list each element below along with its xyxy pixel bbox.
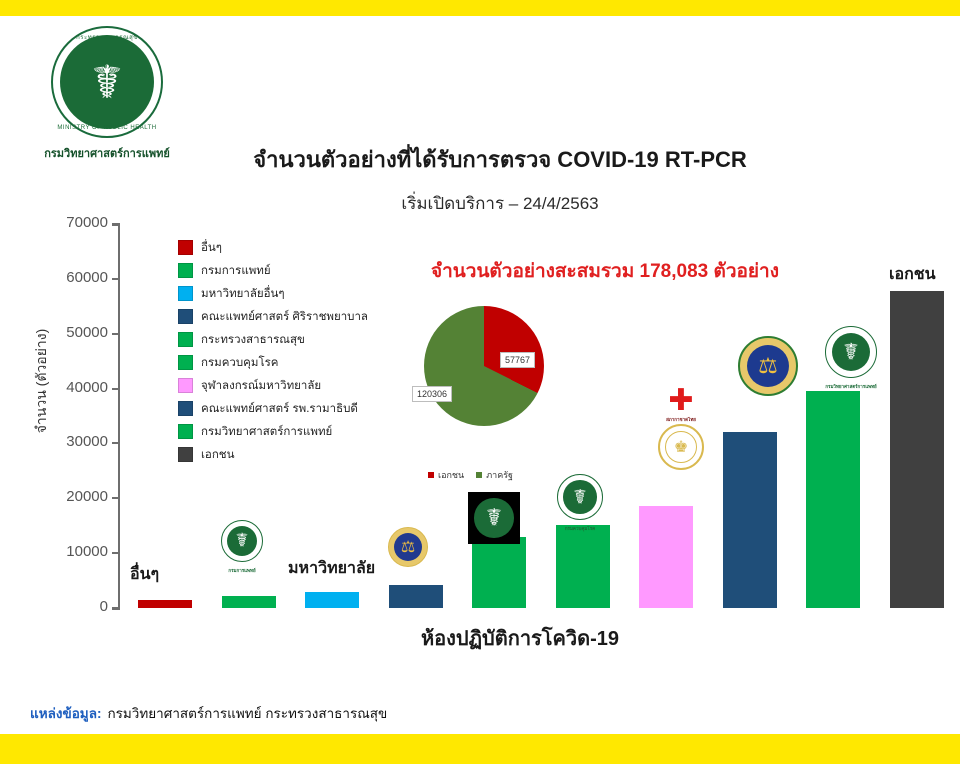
bar-logo-ddc: ☤ กรมควบคุมโรค — [548, 474, 612, 531]
moph-logo: กระทรวงสาธารณสุข ☤ MINISTRY OF PUBLIC HE… — [22, 26, 192, 162]
moph-seal-icon: กระทรวงสาธารณสุข ☤ MINISTRY OF PUBLIC HE… — [51, 26, 163, 138]
y-axis-title: จำนวน (ตัวอย่าง) — [31, 301, 53, 461]
logo-caption: กรมวิทยาศาสตร์การแพทย์ — [22, 144, 192, 162]
pie-legend-item-private: เอกชน — [428, 468, 464, 482]
bar-3 — [305, 592, 359, 608]
pie-headline: จำนวนตัวอย่างสะสมรวม 178,083 ตัวอย่าง — [405, 256, 805, 286]
bar-4 — [389, 585, 443, 608]
bar-logo-caption-2: กรมการแพทย์ — [212, 568, 272, 573]
bar-logo-thai-red-cross: ✚ สภากาชาดไทย ♚ — [646, 386, 716, 475]
caduceus-icon: ☤ — [53, 59, 161, 105]
pie-legend-item-government: ภาครัฐ — [476, 468, 513, 482]
bar-10 — [890, 291, 944, 608]
pie-value-government: 120306 — [412, 386, 452, 402]
page-title: จำนวนตัวอย่างที่ได้รับการตรวจ COVID-19 R… — [200, 142, 800, 177]
y-tick-label: 70000 — [38, 214, 108, 231]
bar-6 — [556, 525, 610, 608]
bottom-accent-bar — [0, 734, 960, 764]
bar-logo-dmsc: ☤ กรมวิทยาศาสตร์การแพทย์ — [808, 326, 894, 389]
bar-9 — [806, 391, 860, 608]
source-label: แหล่งข้อมูล: — [30, 706, 101, 721]
red-cross-icon: ✚ — [646, 386, 716, 416]
pie-legend: เอกชน ภาครัฐ — [428, 468, 568, 482]
bar-logo-siriraj: ⚖ — [378, 527, 438, 572]
bar-logo-ramathibodi: ⚖ — [730, 336, 806, 401]
bar-logo-caption-9: กรมวิทยาศาสตร์การแพทย์ — [808, 384, 894, 389]
bar-logo-caption-6: กรมควบคุมโรค — [548, 526, 612, 531]
bar-label-university: มหาวิทยาลัย — [288, 556, 375, 581]
y-tick-label: 60000 — [38, 269, 108, 286]
seal-ring-top-text: กระทรวงสาธารณสุข — [53, 32, 161, 42]
page-subtitle: เริ่มเปิดบริการ – 24/4/2563 — [200, 190, 800, 217]
bar-2 — [222, 596, 276, 608]
bar-label-other: อื่นๆ — [130, 562, 159, 587]
y-tick-label: 0 — [38, 598, 108, 615]
bar-8 — [723, 432, 777, 608]
seal-ring-bottom-text: MINISTRY OF PUBLIC HEALTH — [53, 125, 161, 131]
bar-1 — [138, 600, 192, 608]
pie-value-private: 57767 — [500, 352, 535, 368]
bar-logo-moph: ☤ — [462, 492, 526, 549]
y-tick-label: 10000 — [38, 543, 108, 560]
bar-logo-caption-7: สภากาชาดไทย — [646, 417, 716, 422]
top-accent-bar — [0, 0, 960, 16]
bar-label-private: เอกชน — [889, 262, 936, 287]
y-tick-label: 20000 — [38, 488, 108, 505]
x-axis-title: ห้องปฏิบัติการโควิด-19 — [300, 622, 740, 654]
bar-7 — [639, 506, 693, 608]
source-note: แหล่งข้อมูล:กรมวิทยาศาสตร์การแพทย์ กระทร… — [30, 702, 387, 724]
source-value: กรมวิทยาศาสตร์การแพทย์ กระทรวงสาธารณสุข — [107, 706, 387, 721]
bar-logo-dept-medical-services: ☤ กรมการแพทย์ — [212, 520, 272, 573]
